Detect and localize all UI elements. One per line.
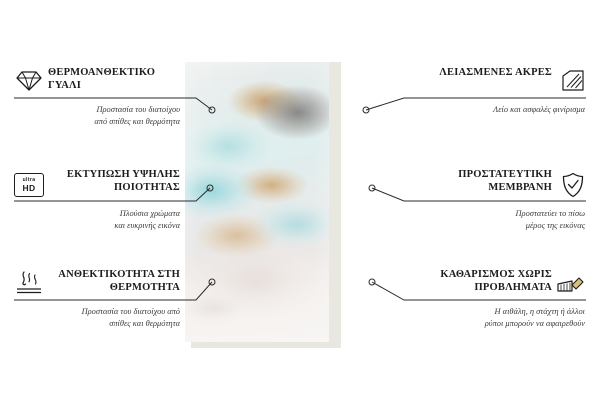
- feature-left-3-desc: Προστασία του διατοίχου από σπίθες και θ…: [8, 306, 180, 329]
- feature-desc-line1: Πλούσια χρώματα: [8, 208, 180, 220]
- feature-title: ΠΡΟΣΤΑΤΕΥΤΙΚΗ ΜΕΜΒΡΑΝΗ: [410, 168, 552, 194]
- feature-right-1: ΛΕΙΑΣΜΕΝΕΣ ΑΚΡΕΣ: [420, 66, 552, 79]
- feature-right-2: ΠΡΟΣΤΑΤΕΥΤΙΚΗ ΜΕΜΒΡΑΝΗ: [410, 168, 552, 194]
- feature-desc-line1: Προστασία του διατοίχου από: [8, 306, 180, 318]
- feature-left-2-desc: Πλούσια χρώματα και ευκρινής εικόνα: [8, 208, 180, 231]
- feature-right-1-desc: Λείο και ασφαλές φινίρισμα: [400, 104, 585, 116]
- product-image: [185, 62, 329, 342]
- feature-desc-line2: μέρος της εικόνας: [400, 220, 585, 232]
- infographic-canvas: ΘΕΡΜΟΑΝΘΕΚΤΙΚΟ ΓΥΑΛΙ Προστασία του διατο…: [0, 0, 600, 400]
- feature-left-2: ΕΚΤΥΠΩΣΗ ΥΨΗΛΗΣ ΠΟΙΟΤΗΤΑΣ: [8, 168, 180, 194]
- feature-desc-line2: σπίθες και θερμότητα: [8, 318, 180, 330]
- feature-title: ΕΚΤΥΠΩΣΗ ΥΨΗΛΗΣ ΠΟΙΟΤΗΤΑΣ: [8, 168, 180, 194]
- shield-icon: [558, 170, 588, 200]
- product-image-container: [185, 62, 335, 348]
- feature-title: ΑΝΘΕΚΤΙΚΟΤΗΤΑ ΣΤΗ ΘΕΡΜΟΤΗΤΑ: [8, 268, 180, 294]
- feature-right-3: ΚΑΘΑΡΙΣΜΟΣ ΧΩΡΙΣ ΠΡΟΒΛΗΜΑΤΑ: [400, 268, 552, 294]
- feature-left-3: ΑΝΘΕΚΤΙΚΟΤΗΤΑ ΣΤΗ ΘΕΡΜΟΤΗΤΑ: [8, 268, 180, 294]
- feature-desc-line2: από σπίθες και θερμότητα: [8, 116, 180, 128]
- feature-desc-line1: Προστασία του διατοίχου: [8, 104, 180, 116]
- bottom-fade-overlay: [185, 250, 329, 342]
- easy-clean-icon: [556, 268, 586, 298]
- feature-title: ΚΑΘΑΡΙΣΜΟΣ ΧΩΡΙΣ ΠΡΟΒΛΗΜΑΤΑ: [400, 268, 552, 294]
- feature-right-2-desc: Προστατεύει το πίσω μέρος της εικόνας: [400, 208, 585, 231]
- feature-right-3-desc: Η αιθάλη, η στάχτη ή άλλοι ρύποι μπορούν…: [395, 306, 585, 329]
- feature-desc-line1: Προστατεύει το πίσω: [400, 208, 585, 220]
- feature-title: ΛΕΙΑΣΜΕΝΕΣ ΑΚΡΕΣ: [420, 66, 552, 79]
- smooth-edges-icon: [558, 66, 588, 96]
- feature-left-1: ΘΕΡΜΟΑΝΘΕΚΤΙΚΟ ΓΥΑΛΙ: [0, 66, 50, 92]
- feature-desc-line1: Η αιθάλη, η στάχτη ή άλλοι: [395, 306, 585, 318]
- feature-left-1-desc: Προστασία του διατοίχου από σπίθες και θ…: [8, 104, 180, 127]
- feature-desc-line1: Λείο και ασφαλές φινίρισμα: [400, 104, 585, 116]
- feature-title: ΘΕΡΜΟΑΝΘΕΚΤΙΚΟ ΓΥΑΛΙ: [0, 66, 50, 92]
- feature-desc-line2: ρύποι μπορούν να αφαιρεθούν: [395, 318, 585, 330]
- feature-desc-line2: και ευκρινής εικόνα: [8, 220, 180, 232]
